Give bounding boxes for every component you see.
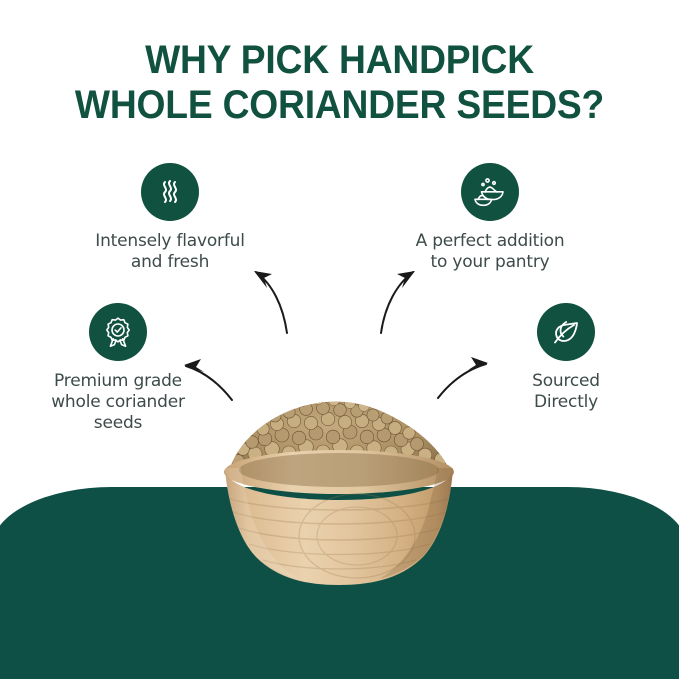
page-title-line-1: WHY PICK HANDPICK	[24, 38, 655, 83]
feature-label: Premium grade whole coriander seeds	[18, 371, 218, 434]
infographic-canvas: WHY PICK HANDPICK WHOLE CORIANDER SEEDS?	[0, 0, 679, 679]
feature-label: Intensely flavorful and fresh	[70, 231, 270, 273]
feature-sourced-directly[interactable]: Sourced Directly	[466, 303, 666, 413]
arrow-to-perfect-addition	[381, 272, 413, 333]
feature-label: Sourced Directly	[466, 371, 666, 413]
feature-label: A perfect addition to your pantry	[390, 231, 590, 273]
leaf-icon	[537, 303, 595, 361]
feature-premium-grade[interactable]: Premium grade whole coriander seeds	[18, 303, 218, 434]
arrowhead-perfect-addition	[397, 271, 415, 288]
feature-intensely-flavorful[interactable]: Intensely flavorful and fresh	[70, 163, 270, 273]
page-title: WHY PICK HANDPICK WHOLE CORIANDER SEEDS?	[0, 38, 679, 128]
arrow-to-intensely-flavorful	[256, 272, 287, 333]
coriander-seeds-bowl	[207, 386, 472, 586]
spice-bowls-icon	[461, 163, 519, 221]
steam-waves-icon	[141, 163, 199, 221]
feature-perfect-addition[interactable]: A perfect addition to your pantry	[390, 163, 590, 273]
award-badge-icon	[89, 303, 147, 361]
page-title-line-2: WHOLE CORIANDER SEEDS?	[24, 83, 655, 128]
arrowhead-intensely-flavorful	[254, 271, 272, 288]
